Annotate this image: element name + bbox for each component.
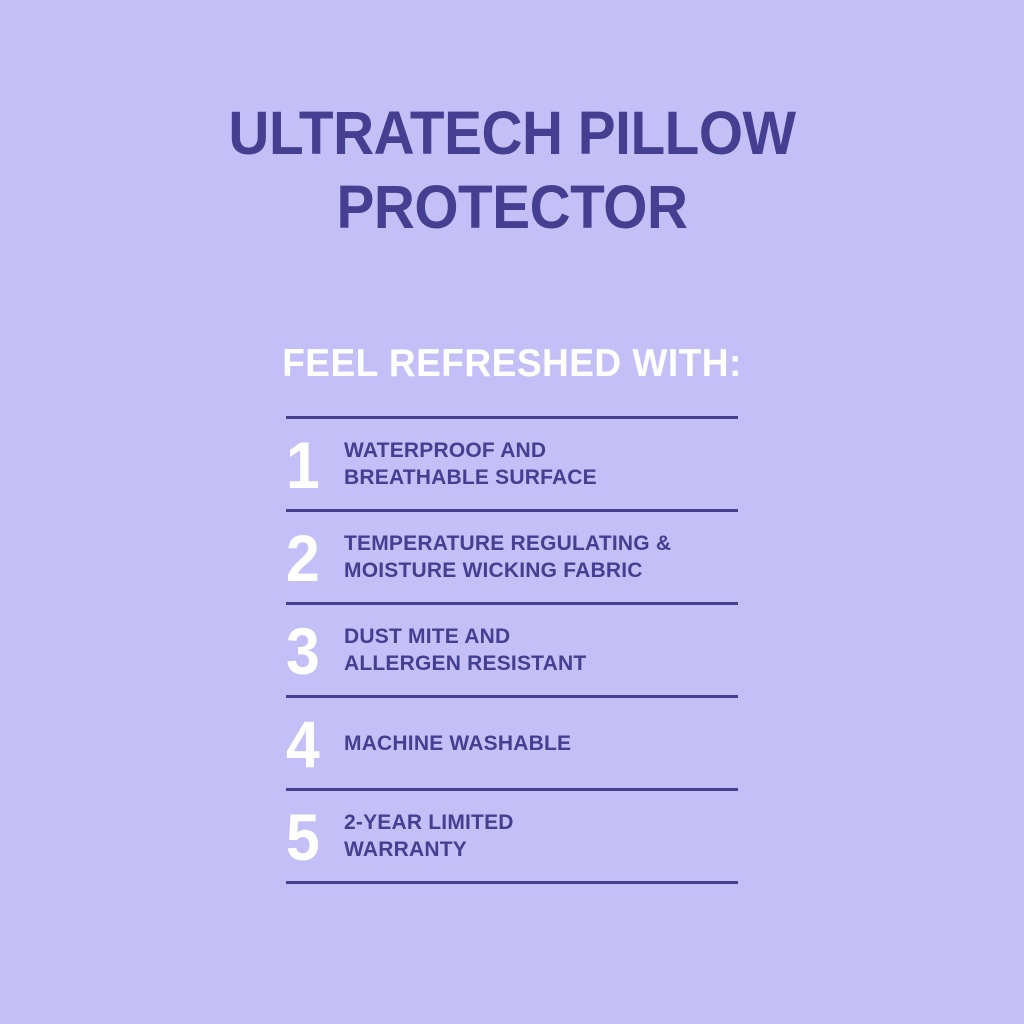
page-title-line-2: PROTECTOR xyxy=(36,170,988,244)
feature-text-3-line-1: DUST MITE AND xyxy=(344,623,738,650)
feature-number-3: 3 xyxy=(286,616,339,684)
feature-number-5: 5 xyxy=(286,802,339,870)
feature-number-1: 1 xyxy=(286,430,339,498)
feature-item-3: 3 DUST MITE AND ALLERGEN RESISTANT xyxy=(286,605,738,695)
feature-text-1: WATERPROOF AND BREATHABLE SURFACE xyxy=(344,437,738,491)
feature-text-3: DUST MITE AND ALLERGEN RESISTANT xyxy=(344,623,738,677)
feature-text-2: TEMPERATURE REGULATING & MOISTURE WICKIN… xyxy=(344,530,738,584)
divider-bottom xyxy=(286,881,738,884)
feature-number-4: 4 xyxy=(286,709,339,777)
feature-text-1-line-1: WATERPROOF AND xyxy=(344,437,738,464)
feature-text-3-line-2: ALLERGEN RESISTANT xyxy=(344,650,738,677)
feature-text-5: 2-YEAR LIMITED WARRANTY xyxy=(344,809,738,863)
feature-number-2: 2 xyxy=(286,523,339,591)
feature-item-5: 5 2-YEAR LIMITED WARRANTY xyxy=(286,791,738,881)
feature-item-1: 1 WATERPROOF AND BREATHABLE SURFACE xyxy=(286,419,738,509)
feature-text-4-line-1: MACHINE WASHABLE xyxy=(344,730,738,757)
feature-item-2: 2 TEMPERATURE REGULATING & MOISTURE WICK… xyxy=(286,512,738,602)
feature-item-4: 4 MACHINE WASHABLE xyxy=(286,698,738,788)
feature-text-2-line-2: MOISTURE WICKING FABRIC xyxy=(344,557,738,584)
feature-text-2-line-1: TEMPERATURE REGULATING & xyxy=(344,530,738,557)
subheading: FEEL REFRESHED WITH: xyxy=(26,341,999,387)
product-feature-poster: ULTRATECH PILLOW PROTECTOR FEEL REFRESHE… xyxy=(0,0,1024,1024)
feature-text-4: MACHINE WASHABLE xyxy=(344,730,738,757)
feature-text-5-line-2: WARRANTY xyxy=(344,836,738,863)
feature-list: 1 WATERPROOF AND BREATHABLE SURFACE 2 TE… xyxy=(286,416,738,884)
feature-text-5-line-1: 2-YEAR LIMITED xyxy=(344,809,738,836)
page-title-line-1: ULTRATECH PILLOW xyxy=(36,96,988,170)
page-title: ULTRATECH PILLOW PROTECTOR xyxy=(0,96,1024,244)
feature-text-1-line-2: BREATHABLE SURFACE xyxy=(344,464,738,491)
